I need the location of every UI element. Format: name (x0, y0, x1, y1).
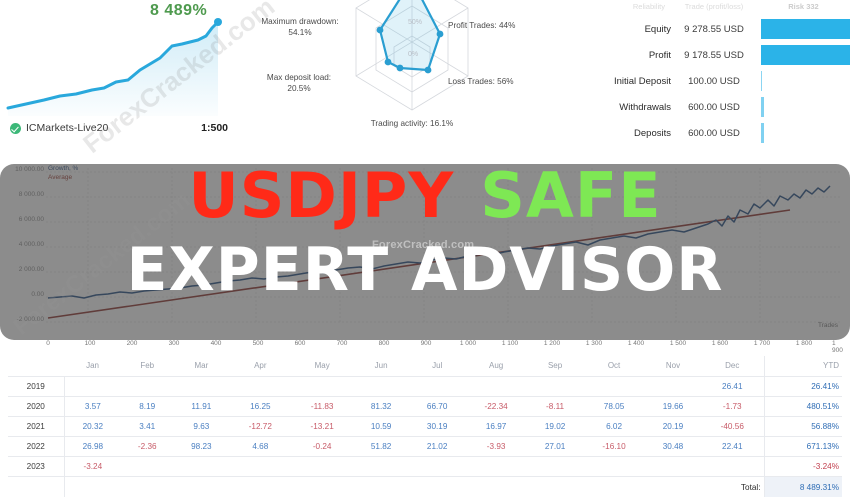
cell-month: 16.25 (229, 397, 291, 417)
cell-month: 6.02 (583, 417, 645, 437)
cell-year: 2023 (8, 457, 64, 477)
radar-label-max-drawdown-value: 54.1% (288, 28, 311, 37)
cell-month: -2.36 (121, 437, 173, 457)
stat-label-profit: Profit (585, 50, 671, 61)
stat-label-equity: Equity (585, 24, 671, 35)
cell-month: 11.91 (173, 397, 229, 417)
growth-sparkline-svg (0, 14, 238, 116)
th-jul: Jul (409, 356, 465, 377)
cell-month: 9.63 (173, 417, 229, 437)
table-header-row: Jan Feb Mar Apr May Jun Jul Aug Sep Oct … (8, 356, 842, 377)
cell-month: 19.02 (527, 417, 583, 437)
cell-month: -12.72 (229, 417, 291, 437)
total-pad (465, 477, 527, 498)
th-may: May (291, 356, 353, 377)
signal-summary-page: 8 489% ICMarkets-Live20 1:500 (0, 0, 850, 500)
cell-month: 4.68 (229, 437, 291, 457)
cell-month (353, 377, 409, 397)
table-total-row: Total: 8 489.31% (8, 477, 842, 498)
th-aug: Aug (465, 356, 527, 377)
stat-barwrap-initial-deposit (757, 70, 850, 92)
cell-month (409, 457, 465, 477)
cell-month (121, 377, 173, 397)
cell-month (645, 377, 701, 397)
total-pad (121, 477, 173, 498)
th-jun: Jun (353, 356, 409, 377)
stat-value-deposits: 600.00 USD (671, 128, 757, 139)
cell-month (64, 377, 121, 397)
table-row: 2022 26.98 -2.36 98.23 4.68 -0.24 51.82 … (8, 437, 842, 457)
y-tick-4: 2 000.00 (0, 266, 44, 273)
legend-average: Average (48, 173, 78, 182)
svg-text:50%: 50% (408, 19, 422, 26)
cell-month: 51.82 (353, 437, 409, 457)
stat-barwrap-withdrawals (757, 96, 850, 118)
x-tick-16: 1 600 (712, 340, 728, 347)
th-mar: Mar (173, 356, 229, 377)
total-value: 8 489.31% (764, 477, 842, 498)
cell-month: -3.24 (64, 457, 121, 477)
cell-month (291, 377, 353, 397)
account-stats-panel: Reliability Trade (profit/loss) Risk 332… (585, 0, 850, 150)
stat-label-withdrawals: Withdrawals (585, 102, 671, 113)
cell-month: 66.70 (409, 397, 465, 417)
stat-label-deposits: Deposits (585, 128, 671, 139)
cell-month (527, 457, 583, 477)
cell-month (465, 457, 527, 477)
cell-month (121, 457, 173, 477)
table-row: 2023 -3.24 -3.24% (8, 457, 842, 477)
cell-month (701, 457, 764, 477)
table-row: 2021 20.32 3.41 9.63 -12.72 -13.21 10.59… (8, 417, 842, 437)
th-apr: Apr (229, 356, 291, 377)
cell-month (645, 457, 701, 477)
x-tick-2: 200 (127, 340, 138, 347)
radar-label-trading-activity: Trading activity: 16.1% (332, 118, 492, 129)
th-jan: Jan (64, 356, 121, 377)
cell-month: 98.23 (173, 437, 229, 457)
x-axis-title: Trades (818, 322, 838, 329)
cell-month: 10.59 (353, 417, 409, 437)
stat-bar-deposits (761, 123, 764, 143)
cell-month (527, 377, 583, 397)
x-tick-12: 1 200 (544, 340, 560, 347)
cell-month: -11.83 (291, 397, 353, 417)
cell-month: -3.93 (465, 437, 527, 457)
x-tick-0: 0 (46, 340, 50, 347)
y-tick-0: 10 000.00 (0, 166, 44, 173)
x-tick-9: 900 (421, 340, 432, 347)
stat-value-profit: 9 178.55 USD (671, 50, 757, 61)
x-tick-13: 1 300 (586, 340, 602, 347)
x-tick-4: 400 (211, 340, 222, 347)
stat-row-deposits: Deposits 600.00 USD (585, 120, 850, 146)
cell-ytd: 671.13% (764, 437, 842, 457)
stat-bar-initial-deposit (761, 71, 762, 91)
stat-bar-withdrawals (761, 97, 764, 117)
th-ytd: YTD (764, 356, 842, 377)
broker-name: ICMarkets-Live20 (26, 122, 108, 134)
x-tick-8: 800 (379, 340, 390, 347)
cell-ytd: 480.51% (764, 397, 842, 417)
cell-month: -1.73 (701, 397, 764, 417)
cell-month (465, 377, 527, 397)
cell-month: 26.41 (701, 377, 764, 397)
growth-sparkline-panel: 8 489% ICMarkets-Live20 1:500 (0, 0, 238, 150)
cell-month (583, 457, 645, 477)
x-tick-5: 500 (253, 340, 264, 347)
cell-month (229, 457, 291, 477)
cell-month (173, 457, 229, 477)
cell-month: 26.98 (64, 437, 121, 457)
th-oct: Oct (583, 356, 645, 377)
stat-barwrap-deposits (757, 122, 850, 144)
total-pad (64, 477, 121, 498)
cell-month: 21.02 (409, 437, 465, 457)
total-pad (409, 477, 465, 498)
x-tick-6: 600 (295, 340, 306, 347)
cell-month: 78.05 (583, 397, 645, 417)
cell-year: 2019 (8, 377, 64, 397)
radar-label-max-deposit-load-value: 20.5% (287, 84, 310, 93)
cell-month: 27.01 (527, 437, 583, 457)
cell-ytd: 56.88% (764, 417, 842, 437)
y-tick-6: -2 000.00 (0, 316, 44, 323)
radar-label-max-drawdown: Maximum drawdown: 54.1% (248, 16, 352, 38)
monthly-returns-table: Jan Feb Mar Apr May Jun Jul Aug Sep Oct … (8, 356, 842, 497)
cell-month: -0.24 (291, 437, 353, 457)
stat-bar-equity (761, 19, 850, 39)
y-tick-3: 4 000.00 (0, 241, 44, 248)
radar-label-profit-trades: Profit Trades: 44% (448, 20, 578, 31)
table-body: 2019 26.41 26.41% 2020 3.57 8.19 11.91 (8, 377, 842, 498)
x-tick-15: 1 500 (670, 340, 686, 347)
stat-value-withdrawals: 600.00 USD (671, 102, 757, 113)
chart-watermark: ForexCracked.com (372, 239, 474, 251)
total-label: Total: (701, 477, 764, 498)
stat-value-initial-deposit: 100.00 USD (671, 76, 757, 87)
y-tick-1: 8 000.00 (0, 191, 44, 198)
stat-bar-profit (761, 45, 850, 65)
cell-month: 30.19 (409, 417, 465, 437)
y-tick-2: 6 000.00 (0, 216, 44, 223)
total-pad (583, 477, 645, 498)
th-dec: Dec (701, 356, 764, 377)
total-pad (173, 477, 229, 498)
total-pad (291, 477, 353, 498)
stat-row-profit: Profit 9 178.55 USD (585, 42, 850, 68)
growth-chart-block: 10 000.00 8 000.00 6 000.00 4 000.00 2 0… (0, 150, 850, 340)
radar-label-max-deposit-load: Max deposit load: 20.5% (246, 72, 352, 94)
cell-month: 22.41 (701, 437, 764, 457)
check-circle-icon (10, 123, 21, 134)
total-pad (645, 477, 701, 498)
cell-ytd: 26.41% (764, 377, 842, 397)
cell-month (353, 457, 409, 477)
top-summary-strip: 8 489% ICMarkets-Live20 1:500 (0, 0, 850, 150)
radar-label-max-drawdown-text: Maximum drawdown: (261, 17, 338, 26)
cell-month: 3.57 (64, 397, 121, 417)
legend-growth: Growth, % (48, 164, 78, 173)
total-pad (527, 477, 583, 498)
cell-month (229, 377, 291, 397)
y-tick-5: 0.00 (0, 291, 44, 298)
cell-month: -13.21 (291, 417, 353, 437)
cell-year: 2022 (8, 437, 64, 457)
stat-row-initial-deposit: Initial Deposit 100.00 USD (585, 68, 850, 94)
table-row: 2019 26.41 26.41% (8, 377, 842, 397)
cell-month: 19.66 (645, 397, 701, 417)
cell-month: 3.41 (121, 417, 173, 437)
x-tick-1: 100 (85, 340, 96, 347)
x-tick-18: 1 800 (796, 340, 812, 347)
x-tick-19: 1 900 (832, 340, 844, 354)
svg-text:0%: 0% (408, 51, 418, 58)
x-tick-10: 1 000 (460, 340, 476, 347)
chart-legend: Growth, % Average (48, 164, 78, 183)
cell-month: -40.56 (701, 417, 764, 437)
stat-label-initial-deposit: Initial Deposit (585, 76, 671, 87)
th-feb: Feb (121, 356, 173, 377)
stats-header-reliability: Reliability (585, 2, 671, 11)
th-sep: Sep (527, 356, 583, 377)
x-tick-14: 1 400 (628, 340, 644, 347)
radar-label-loss-trades: Loss Trades: 56% (448, 76, 578, 87)
radar-chart-panel: 50% 0% Maximum drawdown: 54.1% Profit Tr… (240, 0, 585, 150)
cell-month (173, 377, 229, 397)
stat-barwrap-equity (757, 18, 850, 40)
stat-row-withdrawals: Withdrawals 600.00 USD (585, 94, 850, 120)
stat-value-equity: 9 278.55 USD (671, 24, 757, 35)
cell-ytd: -3.24% (764, 457, 842, 477)
cell-month: -8.11 (527, 397, 583, 417)
x-axis-ticks: 0 100 200 300 400 500 600 700 800 900 1 … (0, 340, 850, 354)
x-tick-3: 300 (169, 340, 180, 347)
cell-month (291, 457, 353, 477)
x-tick-11: 1 100 (502, 340, 518, 347)
cell-month: 81.32 (353, 397, 409, 417)
leverage-value: 1:500 (201, 122, 228, 134)
cell-month (583, 377, 645, 397)
cell-month: 20.19 (645, 417, 701, 437)
th-nov: Nov (645, 356, 701, 377)
cell-month: 8.19 (121, 397, 173, 417)
stats-header-row: Reliability Trade (profit/loss) Risk 332 (585, 0, 850, 11)
table-head: Jan Feb Mar Apr May Jun Jul Aug Sep Oct … (8, 356, 842, 377)
x-tick-7: 700 (337, 340, 348, 347)
stats-header-trade: Trade (profit/loss) (671, 2, 757, 11)
cell-month: 20.32 (64, 417, 121, 437)
stats-header-risk: Risk 332 (757, 2, 850, 11)
cell-month: 30.48 (645, 437, 701, 457)
total-pad (8, 477, 64, 498)
cell-month: -22.34 (465, 397, 527, 417)
cell-year: 2020 (8, 397, 64, 417)
cell-month: 16.97 (465, 417, 527, 437)
total-pad (353, 477, 409, 498)
cell-year: 2021 (8, 417, 64, 437)
cell-month (409, 377, 465, 397)
stat-row-equity: Equity 9 278.55 USD (585, 16, 850, 42)
table-row: 2020 3.57 8.19 11.91 16.25 -11.83 81.32 … (8, 397, 842, 417)
th-year (8, 356, 64, 377)
radar-label-max-deposit-load-text: Max deposit load: (267, 73, 331, 82)
stat-barwrap-profit (757, 44, 850, 66)
x-tick-17: 1 700 (754, 340, 770, 347)
cell-month: -16.10 (583, 437, 645, 457)
total-pad (229, 477, 291, 498)
